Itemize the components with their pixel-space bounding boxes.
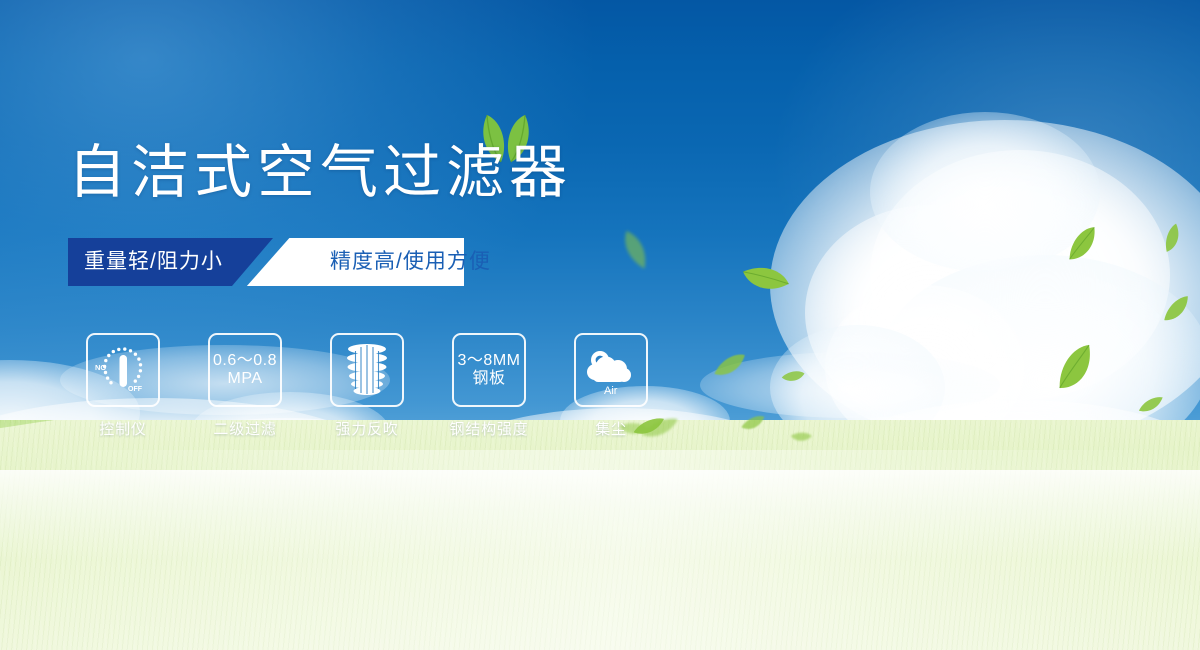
air-cloud-icon: Air bbox=[580, 342, 642, 398]
feature-label: 钢结构强度 bbox=[449, 418, 528, 439]
floating-leaf-icon bbox=[780, 367, 806, 385]
floating-leaf-icon bbox=[739, 414, 767, 433]
feature-list: NO OFF 控制仪 0.6〜0.8 MPA 二级过滤 bbox=[62, 333, 672, 439]
product-banner: 自洁式空气过滤器 重量轻/阻力小 精度高/使用方便 bbox=[0, 0, 1200, 650]
filter-stack-icon-box bbox=[330, 333, 404, 407]
filter-stack-icon bbox=[341, 342, 393, 398]
feature-item-dust-collection[interactable]: Air 集尘 bbox=[550, 333, 672, 439]
page-title: 自洁式空气过滤器 bbox=[68, 144, 572, 202]
air-cloud-caption: Air bbox=[604, 385, 618, 397]
gauge-label-no: NO bbox=[95, 363, 106, 372]
gauge-label-off: OFF bbox=[128, 386, 143, 393]
tagline-right-text: 精度高/使用方便 bbox=[330, 238, 491, 286]
feature-label: 集尘 bbox=[595, 418, 627, 439]
feature-label: 强力反吹 bbox=[335, 418, 398, 439]
pressure-icon-box: 0.6〜0.8 MPA bbox=[208, 333, 282, 407]
pressure-icon-text: 0.6〜0.8 MPA bbox=[213, 352, 277, 388]
feature-item-control-unit[interactable]: NO OFF 控制仪 bbox=[62, 333, 184, 439]
tagline-left-text: 重量轻/阻力小 bbox=[84, 238, 223, 286]
gauge-icon: NO OFF bbox=[92, 342, 154, 398]
feature-label: 控制仪 bbox=[99, 418, 146, 439]
feature-label: 二级过滤 bbox=[213, 418, 276, 439]
feature-item-steel-strength[interactable]: 3〜8MM 钢板 钢结构强度 bbox=[428, 333, 550, 439]
horizon-haze bbox=[0, 470, 1200, 560]
gauge-icon-box: NO OFF bbox=[86, 333, 160, 407]
steel-plate-icon-box: 3〜8MM 钢板 bbox=[452, 333, 526, 407]
steel-plate-icon-text: 3〜8MM 钢板 bbox=[458, 352, 521, 388]
feature-item-two-stage-filter[interactable]: 0.6〜0.8 MPA 二级过滤 bbox=[184, 333, 306, 439]
feature-item-strong-blowback[interactable]: 强力反吹 bbox=[306, 333, 428, 439]
tagline-badge: 重量轻/阻力小 精度高/使用方便 bbox=[68, 238, 464, 286]
air-cloud-icon-box: Air bbox=[574, 333, 648, 407]
